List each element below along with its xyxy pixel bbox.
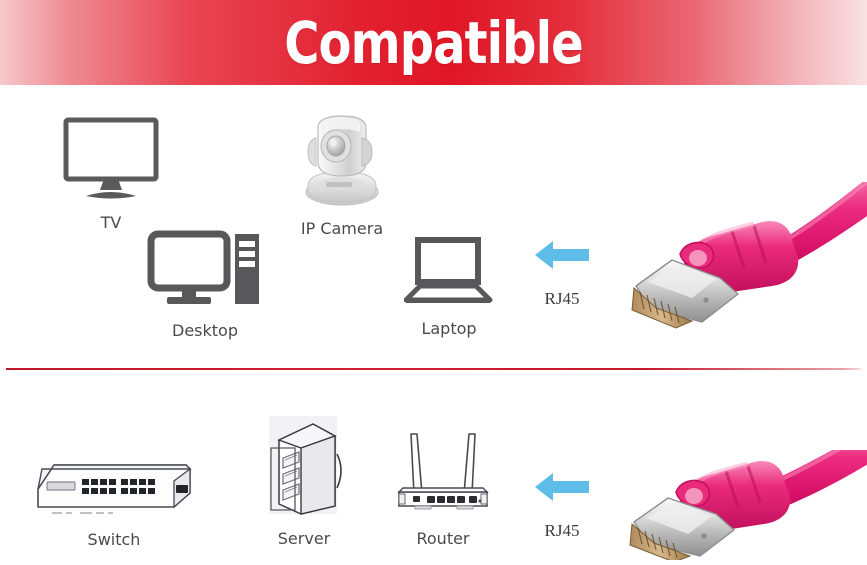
rj45-cable-bottom bbox=[622, 450, 867, 565]
device-label: Laptop bbox=[421, 319, 476, 338]
device-tv: TV bbox=[58, 116, 164, 232]
wifi-router-icon bbox=[391, 422, 495, 523]
ip-camera-icon bbox=[296, 108, 388, 213]
device-laptop: Laptop bbox=[404, 236, 494, 338]
device-label: Desktop bbox=[172, 321, 238, 340]
rj45-label: RJ45 bbox=[545, 521, 580, 541]
device-ip-camera: IP Camera bbox=[296, 108, 388, 238]
device-label: IP Camera bbox=[301, 219, 383, 238]
device-server: Server bbox=[261, 414, 347, 548]
server-rack-icon bbox=[261, 414, 347, 523]
connector-callout-top: RJ45 bbox=[533, 238, 591, 309]
desktop-computer-icon bbox=[147, 230, 263, 315]
rj45-cable-top bbox=[622, 182, 867, 337]
tv-icon bbox=[58, 116, 164, 207]
arrow-left-icon bbox=[533, 238, 591, 277]
laptop-icon bbox=[404, 236, 494, 313]
device-label: Router bbox=[416, 529, 469, 548]
device-router: Router bbox=[391, 422, 495, 548]
arrow-left-icon bbox=[533, 470, 591, 509]
device-switch: Switch bbox=[30, 445, 198, 549]
section-divider bbox=[6, 368, 861, 370]
connector-callout-bottom: RJ45 bbox=[533, 470, 591, 541]
network-switch-icon bbox=[30, 445, 198, 524]
header-banner: Compatible bbox=[0, 0, 867, 85]
page-title: Compatible bbox=[35, 0, 833, 85]
rj45-label: RJ45 bbox=[545, 289, 580, 309]
device-label: Server bbox=[278, 529, 330, 548]
device-label: TV bbox=[101, 213, 122, 232]
device-label: Switch bbox=[88, 530, 141, 549]
device-desktop: Desktop bbox=[147, 230, 263, 340]
